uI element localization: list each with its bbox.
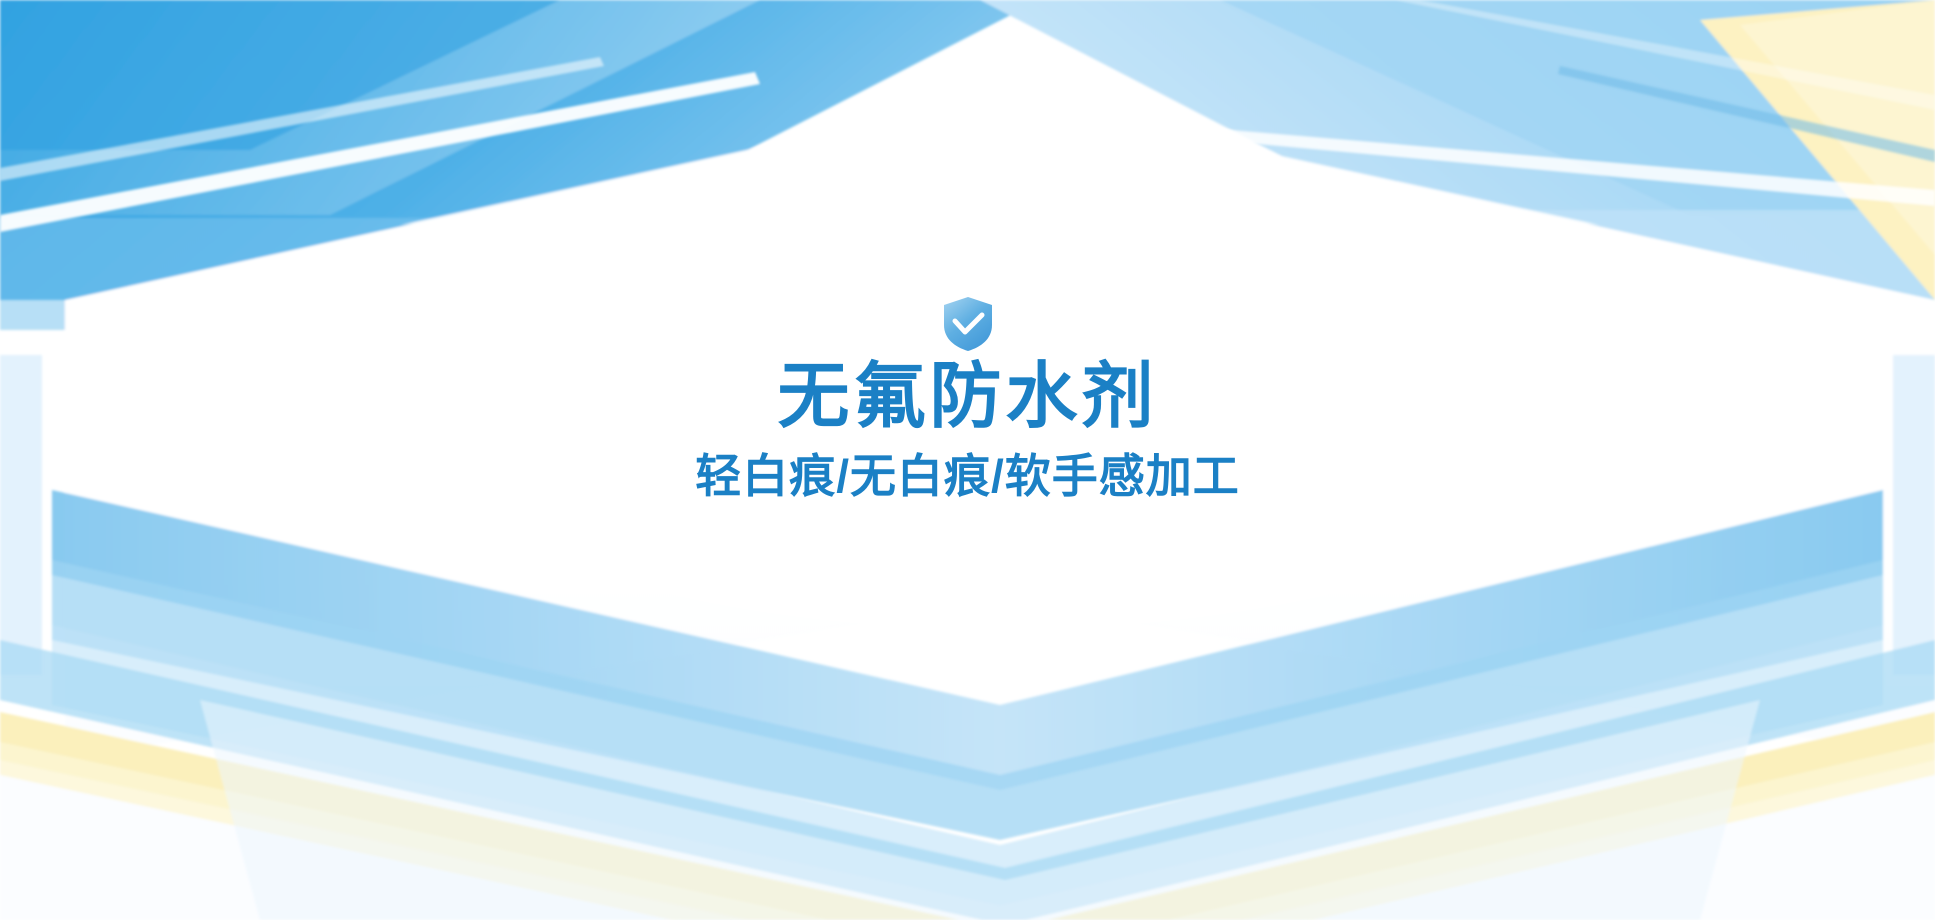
shield-body — [944, 297, 992, 351]
bg-left-vertical-block — [0, 355, 42, 675]
product-banner: 无氟防水剂 轻白痕/无白痕/软手感加工 — [0, 0, 1935, 920]
bg-right-vertical-block — [1893, 355, 1935, 675]
page-subtitle: 轻白痕/无白痕/软手感加工 — [695, 451, 1240, 503]
page-title: 无氟防水剂 — [777, 359, 1157, 437]
shield-check-icon — [940, 295, 996, 353]
